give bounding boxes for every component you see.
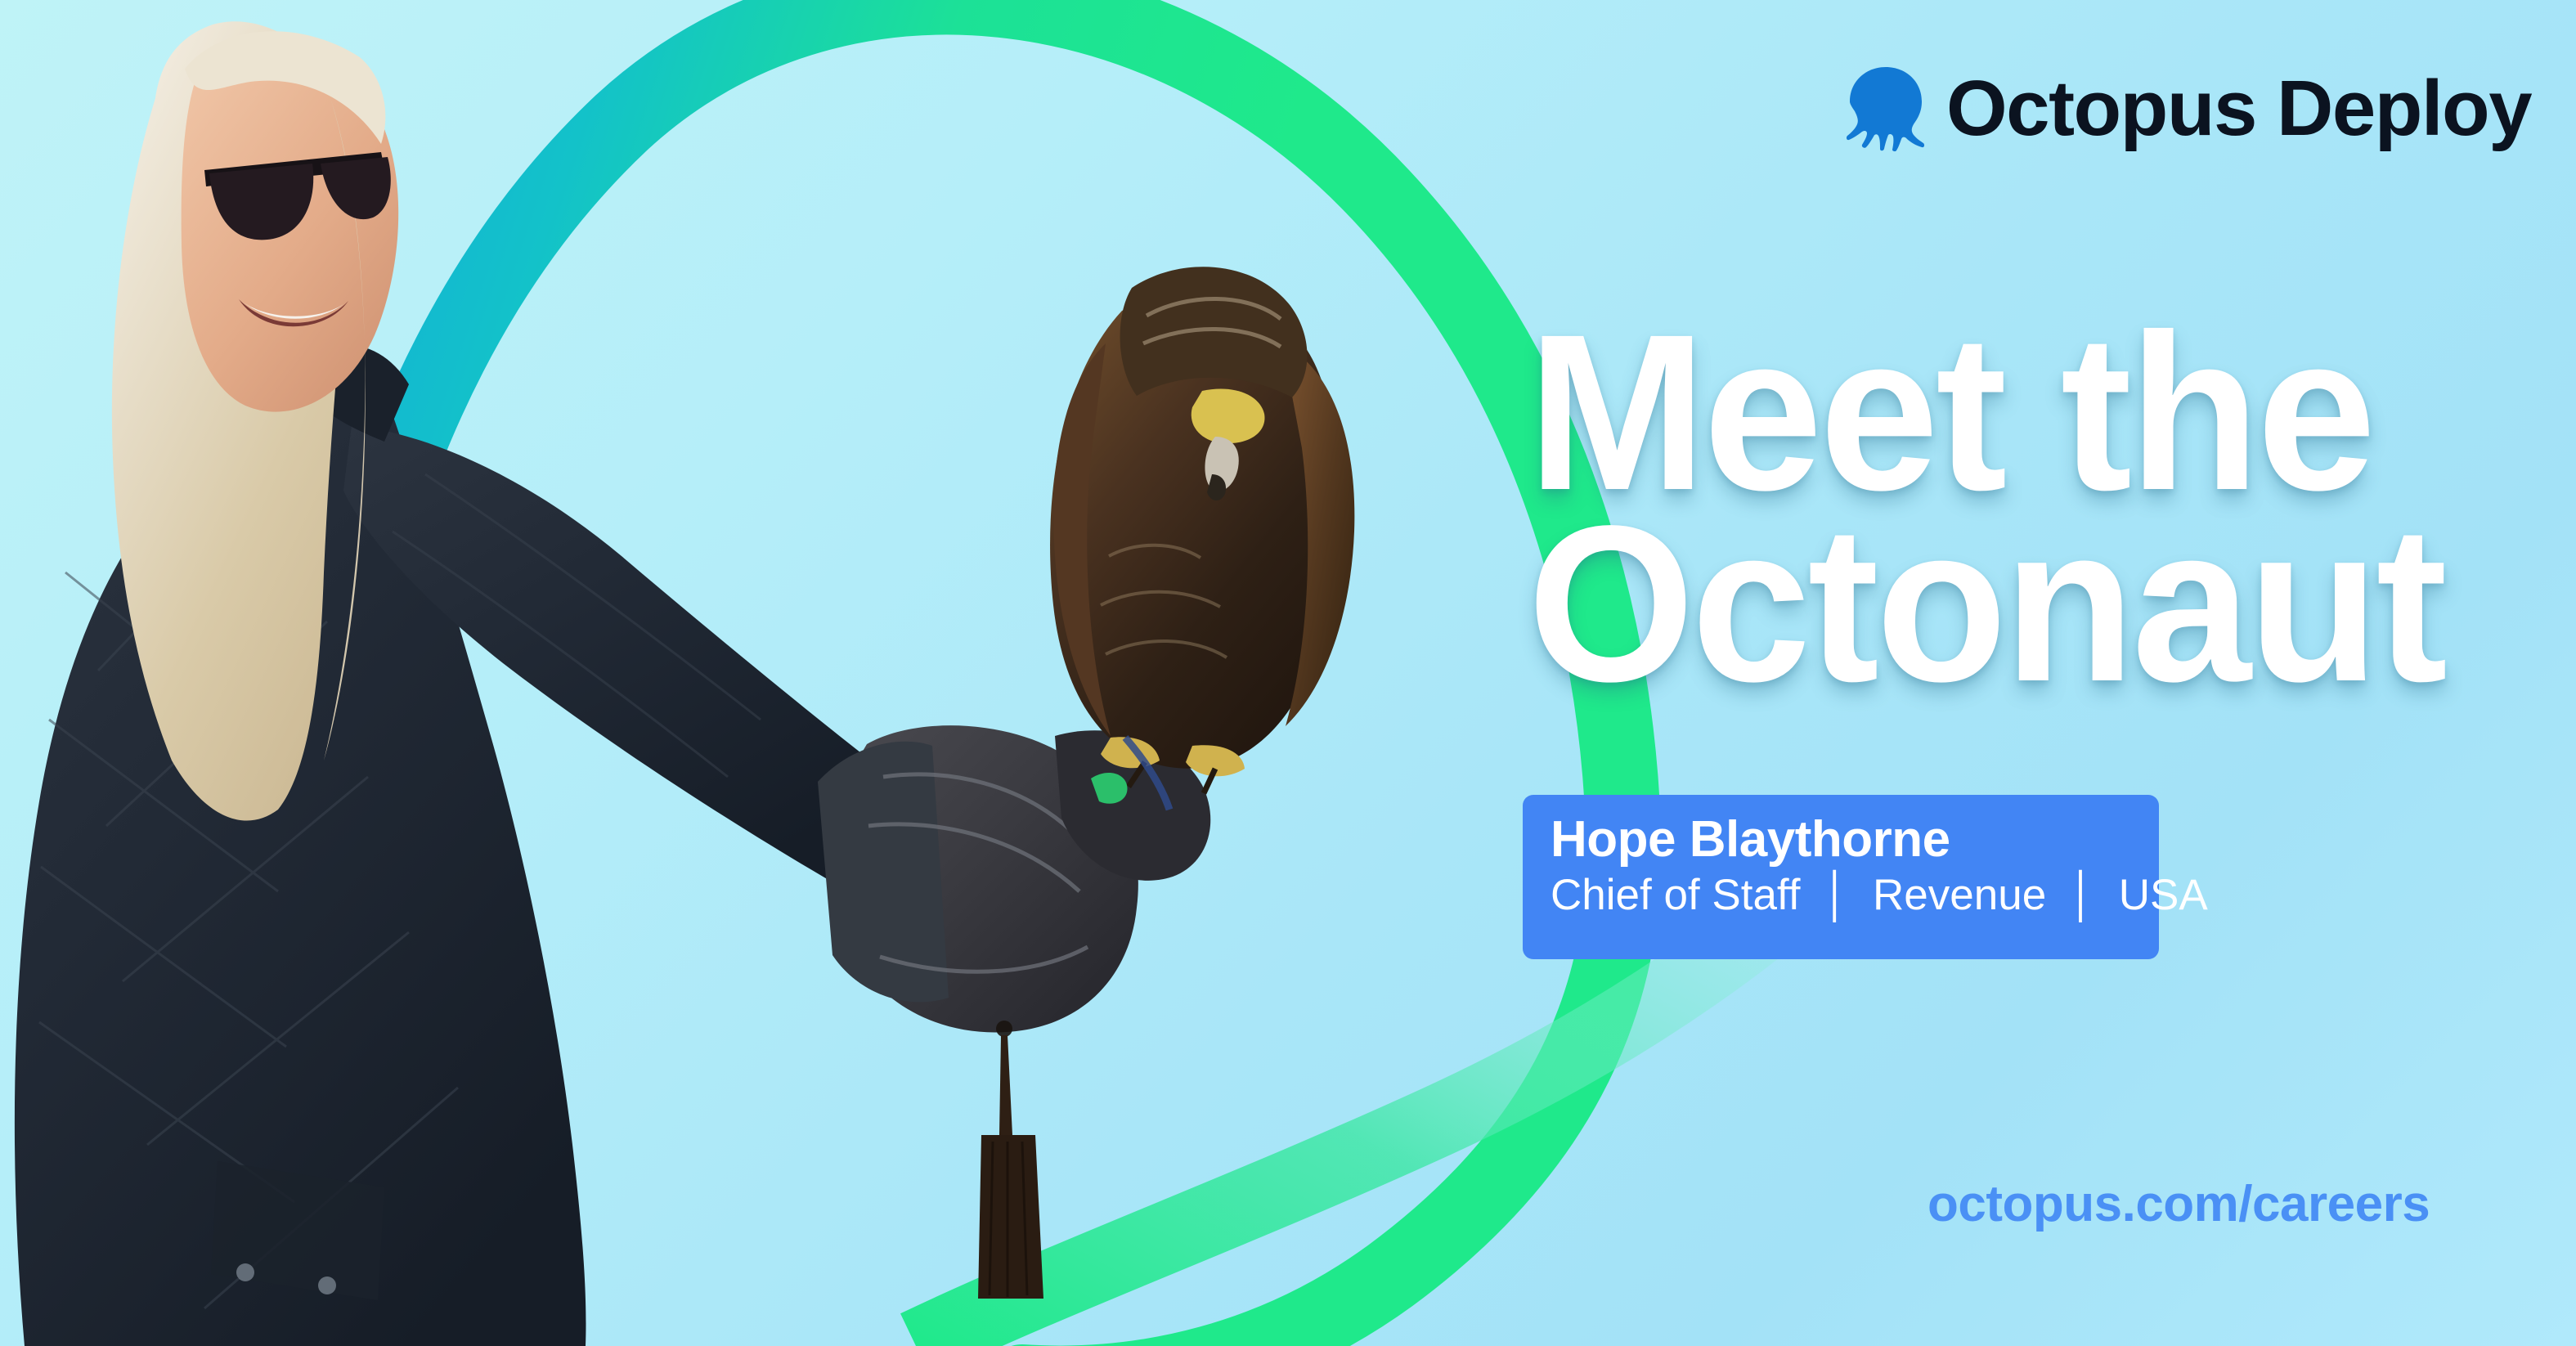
glove-tassel xyxy=(978,1021,1043,1299)
role-title: Chief of Staff xyxy=(1551,871,1800,919)
role-location: USA xyxy=(2119,871,2208,919)
brand-logo: Octopus Deploy xyxy=(1847,65,2531,152)
person-name: Hope Blaythorne xyxy=(1551,813,2131,866)
role-separator-1: │ xyxy=(1812,871,1860,919)
headline-line-1: Meet the xyxy=(1528,325,2475,499)
role-team: Revenue xyxy=(1873,871,2046,919)
social-graphic-canvas: Octopus Deploy Meet the Octonaut Hope Bl… xyxy=(0,0,2576,1346)
octopus-logo-icon xyxy=(1847,65,1925,152)
jacket-stud-upper xyxy=(236,1263,254,1281)
harris-hawk xyxy=(1050,267,1354,810)
subject-photo xyxy=(0,0,1431,1346)
glove-cuff xyxy=(818,742,949,1003)
headline-line-2: Octonaut xyxy=(1528,517,2475,690)
person-role-line: Chief of Staff │ Revenue │ USA xyxy=(1551,871,2131,919)
page-title: Meet the Octonaut xyxy=(1528,325,2509,690)
role-separator-2: │ xyxy=(2058,871,2107,919)
careers-url-link[interactable]: octopus.com/careers xyxy=(1928,1179,2430,1230)
jacket-stud-lower xyxy=(318,1276,336,1294)
person-name-badge: Hope Blaythorne Chief of Staff │ Revenue… xyxy=(1523,795,2159,959)
logo-wordmark: Octopus Deploy xyxy=(1946,70,2531,148)
